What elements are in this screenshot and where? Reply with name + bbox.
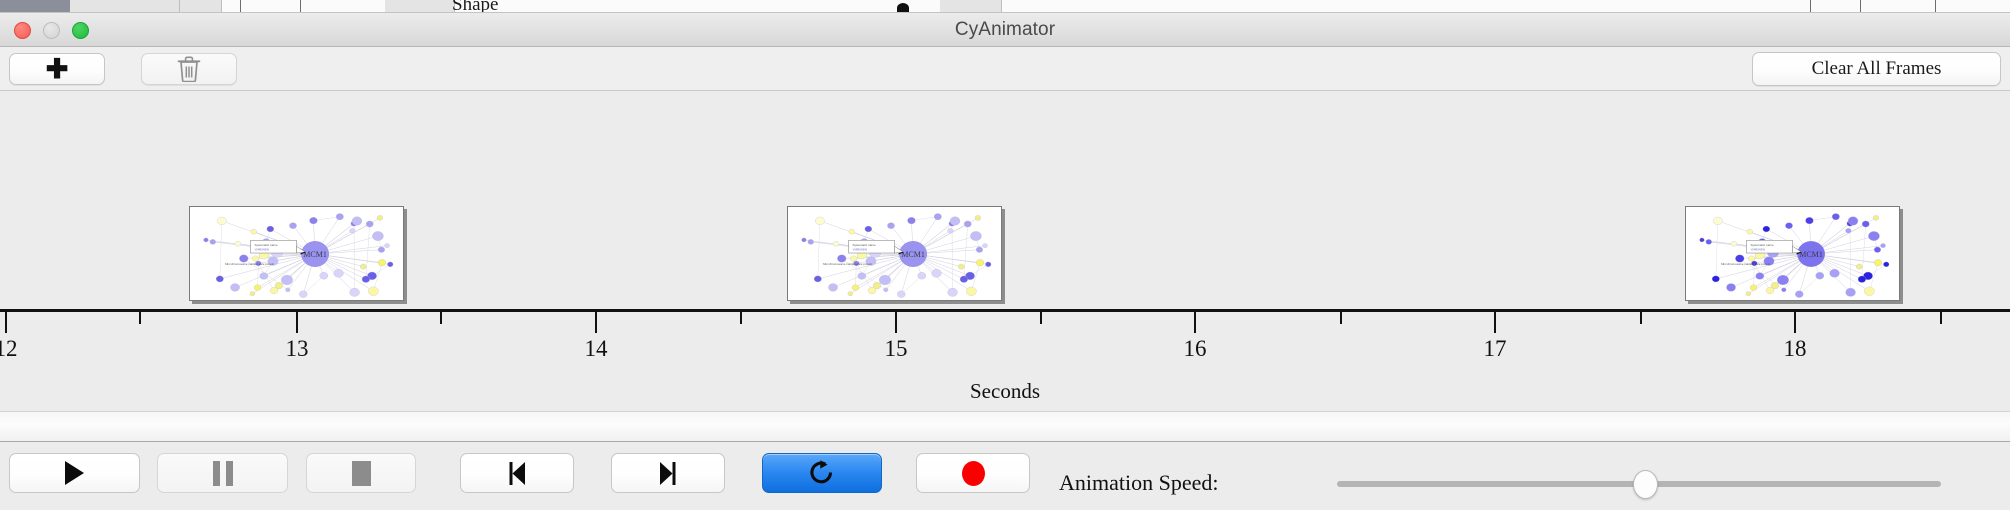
loop-icon xyxy=(808,459,836,488)
axis-tick-label: 17 xyxy=(1484,336,1507,362)
axis-tick-label: 12 xyxy=(0,336,18,362)
axis-tick-minor xyxy=(1940,312,1942,324)
frame-thumbnail[interactable]: MCM1Systematic nameYMR043WMini chromosom… xyxy=(189,206,404,301)
loop-button[interactable] xyxy=(762,453,882,493)
background-window-label: Shape xyxy=(452,0,498,13)
axis-tick-label: 15 xyxy=(885,336,908,362)
axis-tick-major xyxy=(5,312,7,333)
window-title: CyAnimator xyxy=(0,19,2010,41)
playback-control-bar: Animation Speed: xyxy=(0,443,2010,510)
svg-text:MCM1: MCM1 xyxy=(901,250,925,259)
axis-tick-minor xyxy=(1340,312,1342,324)
axis-tick-label: 13 xyxy=(286,336,309,362)
axis-tick-major xyxy=(895,312,897,333)
play-icon xyxy=(65,461,84,485)
animation-speed-label: Animation Speed: xyxy=(1059,470,1218,496)
title-bar: CyAnimator xyxy=(0,13,2010,47)
skip-end-button[interactable] xyxy=(611,453,725,493)
svg-text:YMR043W: YMR043W xyxy=(255,248,270,252)
svg-text:Systematic name: Systematic name xyxy=(255,243,278,247)
axis-tick-major xyxy=(296,312,298,333)
axis-tick-minor xyxy=(740,312,742,324)
network-thumbnail-image: MCM1Systematic nameYMR043WMini chromosom… xyxy=(788,207,1002,301)
axis-tick-major xyxy=(1494,312,1496,333)
svg-text:Mini chromosome maintenance pr: Mini chromosome maintenance protein xyxy=(823,262,872,266)
frame-thumbnail[interactable]: MCM1Systematic nameYMR043WMini chromosom… xyxy=(787,206,1002,301)
trash-icon xyxy=(177,56,201,82)
background-window-strip: Shape xyxy=(0,0,2010,13)
animation-speed-slider[interactable] xyxy=(1337,481,1941,487)
svg-text:Systematic name: Systematic name xyxy=(853,243,876,247)
axis-tick-major xyxy=(595,312,597,333)
delete-frame-button[interactable] xyxy=(141,53,237,85)
svg-text:YMR043W: YMR043W xyxy=(1751,248,1766,252)
record-button[interactable] xyxy=(916,453,1030,493)
stop-icon xyxy=(352,461,371,486)
axis-tick-label: 16 xyxy=(1184,336,1207,362)
axis-title: Seconds xyxy=(0,379,2010,404)
svg-text:Mini chromosome maintenance pr: Mini chromosome maintenance protein xyxy=(225,262,274,266)
svg-text:YMR043W: YMR043W xyxy=(853,248,868,252)
axis-tick-minor xyxy=(139,312,141,324)
svg-text:MCM1: MCM1 xyxy=(303,250,327,259)
axis-tick-major xyxy=(1194,312,1196,333)
background-window-titlebar xyxy=(0,0,70,13)
skip-start-icon xyxy=(503,460,531,487)
axis-tick-label: 18 xyxy=(1784,336,1807,362)
axis-tick-label: 14 xyxy=(585,336,608,362)
axis-tick-major xyxy=(1794,312,1796,333)
plus-icon: ✚ xyxy=(46,56,69,83)
frame-thumbnail[interactable]: MCM1Systematic nameYMR043WMini chromosom… xyxy=(1685,206,1900,301)
animation-speed-slider-knob[interactable] xyxy=(1633,470,1658,499)
stop-button[interactable] xyxy=(306,453,416,493)
clear-all-frames-label: Clear All Frames xyxy=(1812,58,1942,80)
svg-text:Systematic name: Systematic name xyxy=(1751,243,1774,247)
skip-end-icon xyxy=(654,460,682,487)
axis-tick-minor xyxy=(440,312,442,324)
svg-text:MCM1: MCM1 xyxy=(1799,250,1823,259)
clear-all-frames-button[interactable]: Clear All Frames xyxy=(1752,52,2001,86)
cyanimator-window: Shape CyAnimator ✚ Clear All Fram xyxy=(0,0,2010,510)
timeline-axis-line xyxy=(0,309,2010,312)
timeline-panel[interactable]: MCM1Systematic nameYMR043WMini chromosom… xyxy=(0,91,2010,412)
play-button[interactable] xyxy=(9,453,140,493)
timeline-scrollbar-track[interactable] xyxy=(0,412,2010,442)
skip-start-button[interactable] xyxy=(460,453,574,493)
add-frame-button[interactable]: ✚ xyxy=(9,53,105,85)
axis-tick-minor xyxy=(1040,312,1042,324)
network-thumbnail-image: MCM1Systematic nameYMR043WMini chromosom… xyxy=(190,207,404,301)
record-icon xyxy=(962,461,985,486)
network-thumbnail-image: MCM1Systematic nameYMR043WMini chromosom… xyxy=(1686,207,1900,301)
axis-tick-minor xyxy=(1640,312,1642,324)
svg-text:Mini chromosome maintenance pr: Mini chromosome maintenance protein xyxy=(1721,262,1770,266)
pause-button[interactable] xyxy=(157,453,288,493)
pause-icon xyxy=(213,461,233,486)
frame-toolbar: ✚ Clear All Frames xyxy=(0,47,2010,91)
